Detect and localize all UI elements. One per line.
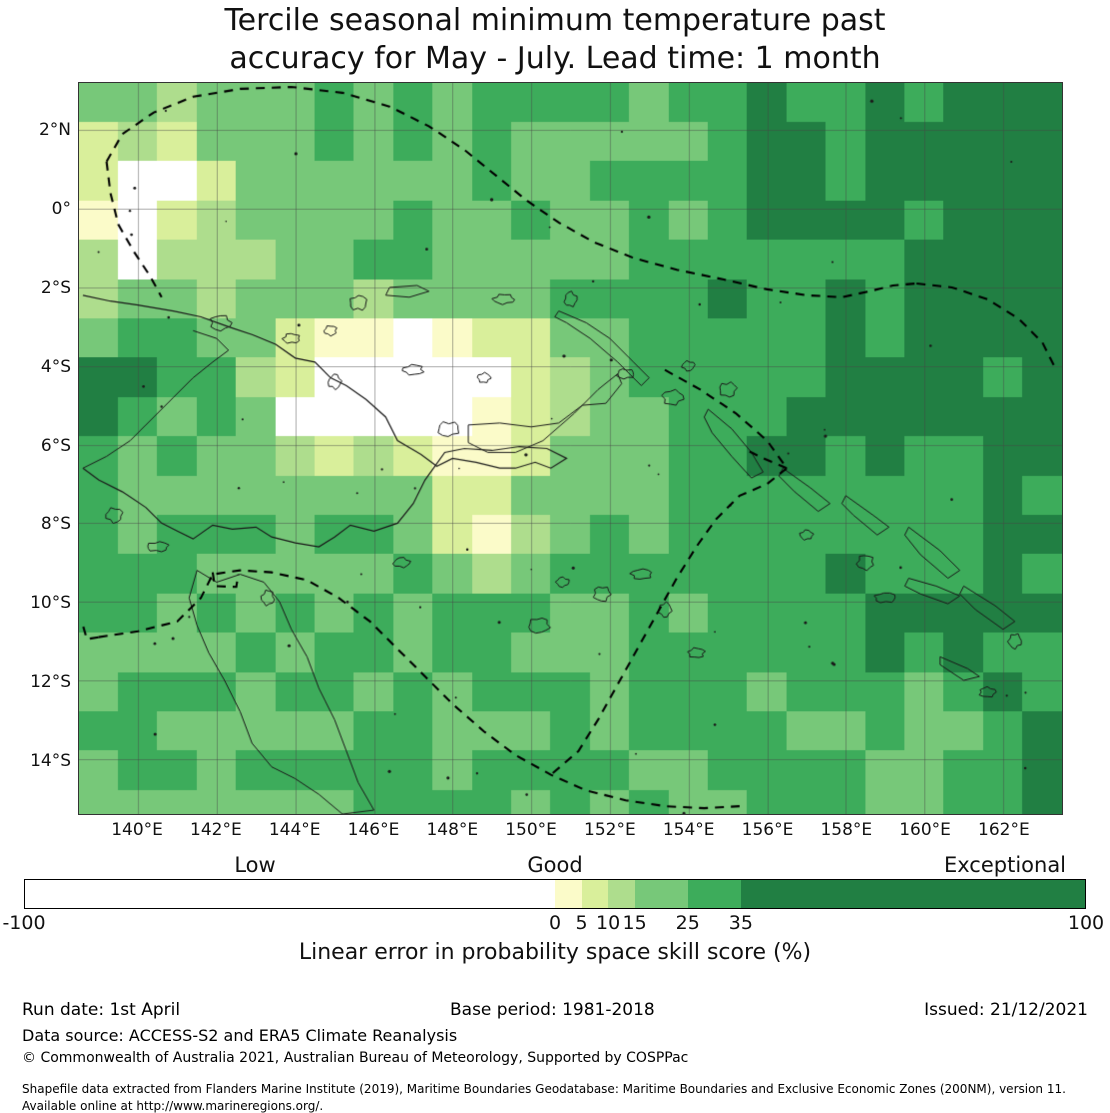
colorbar-segment [555, 880, 582, 908]
skill-score-heatmap [79, 83, 1062, 814]
y-tick-label: 6°S [0, 436, 71, 456]
issued-date: Issued: 21/12/2021 [924, 1000, 1088, 1020]
colorbar-axis-label: Linear error in probability space skill … [0, 940, 1110, 965]
data-source: Data source: ACCESS-S2 and ERA5 Climate … [22, 1026, 457, 1045]
colorbar-segment [582, 880, 609, 908]
copyright-notice: © Commonwealth of Australia 2021, Austra… [22, 1050, 688, 1066]
colorbar-category: Good [527, 853, 582, 877]
colorbar-tick: 0 [549, 912, 561, 934]
chart-title-line2: accuracy for May - July. Lead time: 1 mo… [0, 40, 1110, 78]
colorbar-tick: -100 [2, 912, 45, 934]
y-tick-label: 4°S [0, 357, 71, 377]
colorbar-tick: 10 [596, 912, 620, 934]
shapefile-credit-line1: Shapefile data extracted from Flanders M… [22, 1082, 1066, 1096]
y-tick-label: 8°S [0, 514, 71, 534]
colorbar-segment [25, 880, 555, 908]
colorbar-tick: 35 [729, 912, 753, 934]
y-tick-label: 14°S [0, 751, 71, 771]
colorbar-segment [741, 880, 1086, 908]
colorbar-tick: 15 [623, 912, 647, 934]
chart-title: Tercile seasonal minimum temperature pas… [0, 2, 1110, 78]
shapefile-credit-line2: Available online at http://www.marinereg… [22, 1099, 323, 1113]
footer: Run date: 1st April Base period: 1981-20… [0, 1000, 1110, 1024]
colorbar-category: Exceptional [944, 853, 1066, 877]
colorbar [24, 879, 1086, 909]
y-tick-label: 2°N [0, 120, 71, 140]
base-period: Base period: 1981-2018 [450, 1000, 655, 1020]
y-tick-label: 12°S [0, 672, 71, 692]
colorbar-category: Low [234, 853, 275, 877]
colorbar-segment [608, 880, 635, 908]
y-tick-label: 2°S [0, 278, 71, 298]
run-date: Run date: 1st April [22, 1000, 180, 1020]
colorbar-segment [688, 880, 741, 908]
colorbar-tick: 25 [676, 912, 700, 934]
x-tick-label: 162°E [944, 820, 1064, 840]
colorbar-tick: 100 [1068, 912, 1104, 934]
colorbar-tick: 5 [576, 912, 588, 934]
colorbar-segment [635, 880, 688, 908]
y-tick-label: 10°S [0, 593, 71, 613]
y-tick-label: 0° [0, 199, 71, 219]
chart-title-line1: Tercile seasonal minimum temperature pas… [0, 2, 1110, 40]
map-plot-area [78, 82, 1063, 815]
